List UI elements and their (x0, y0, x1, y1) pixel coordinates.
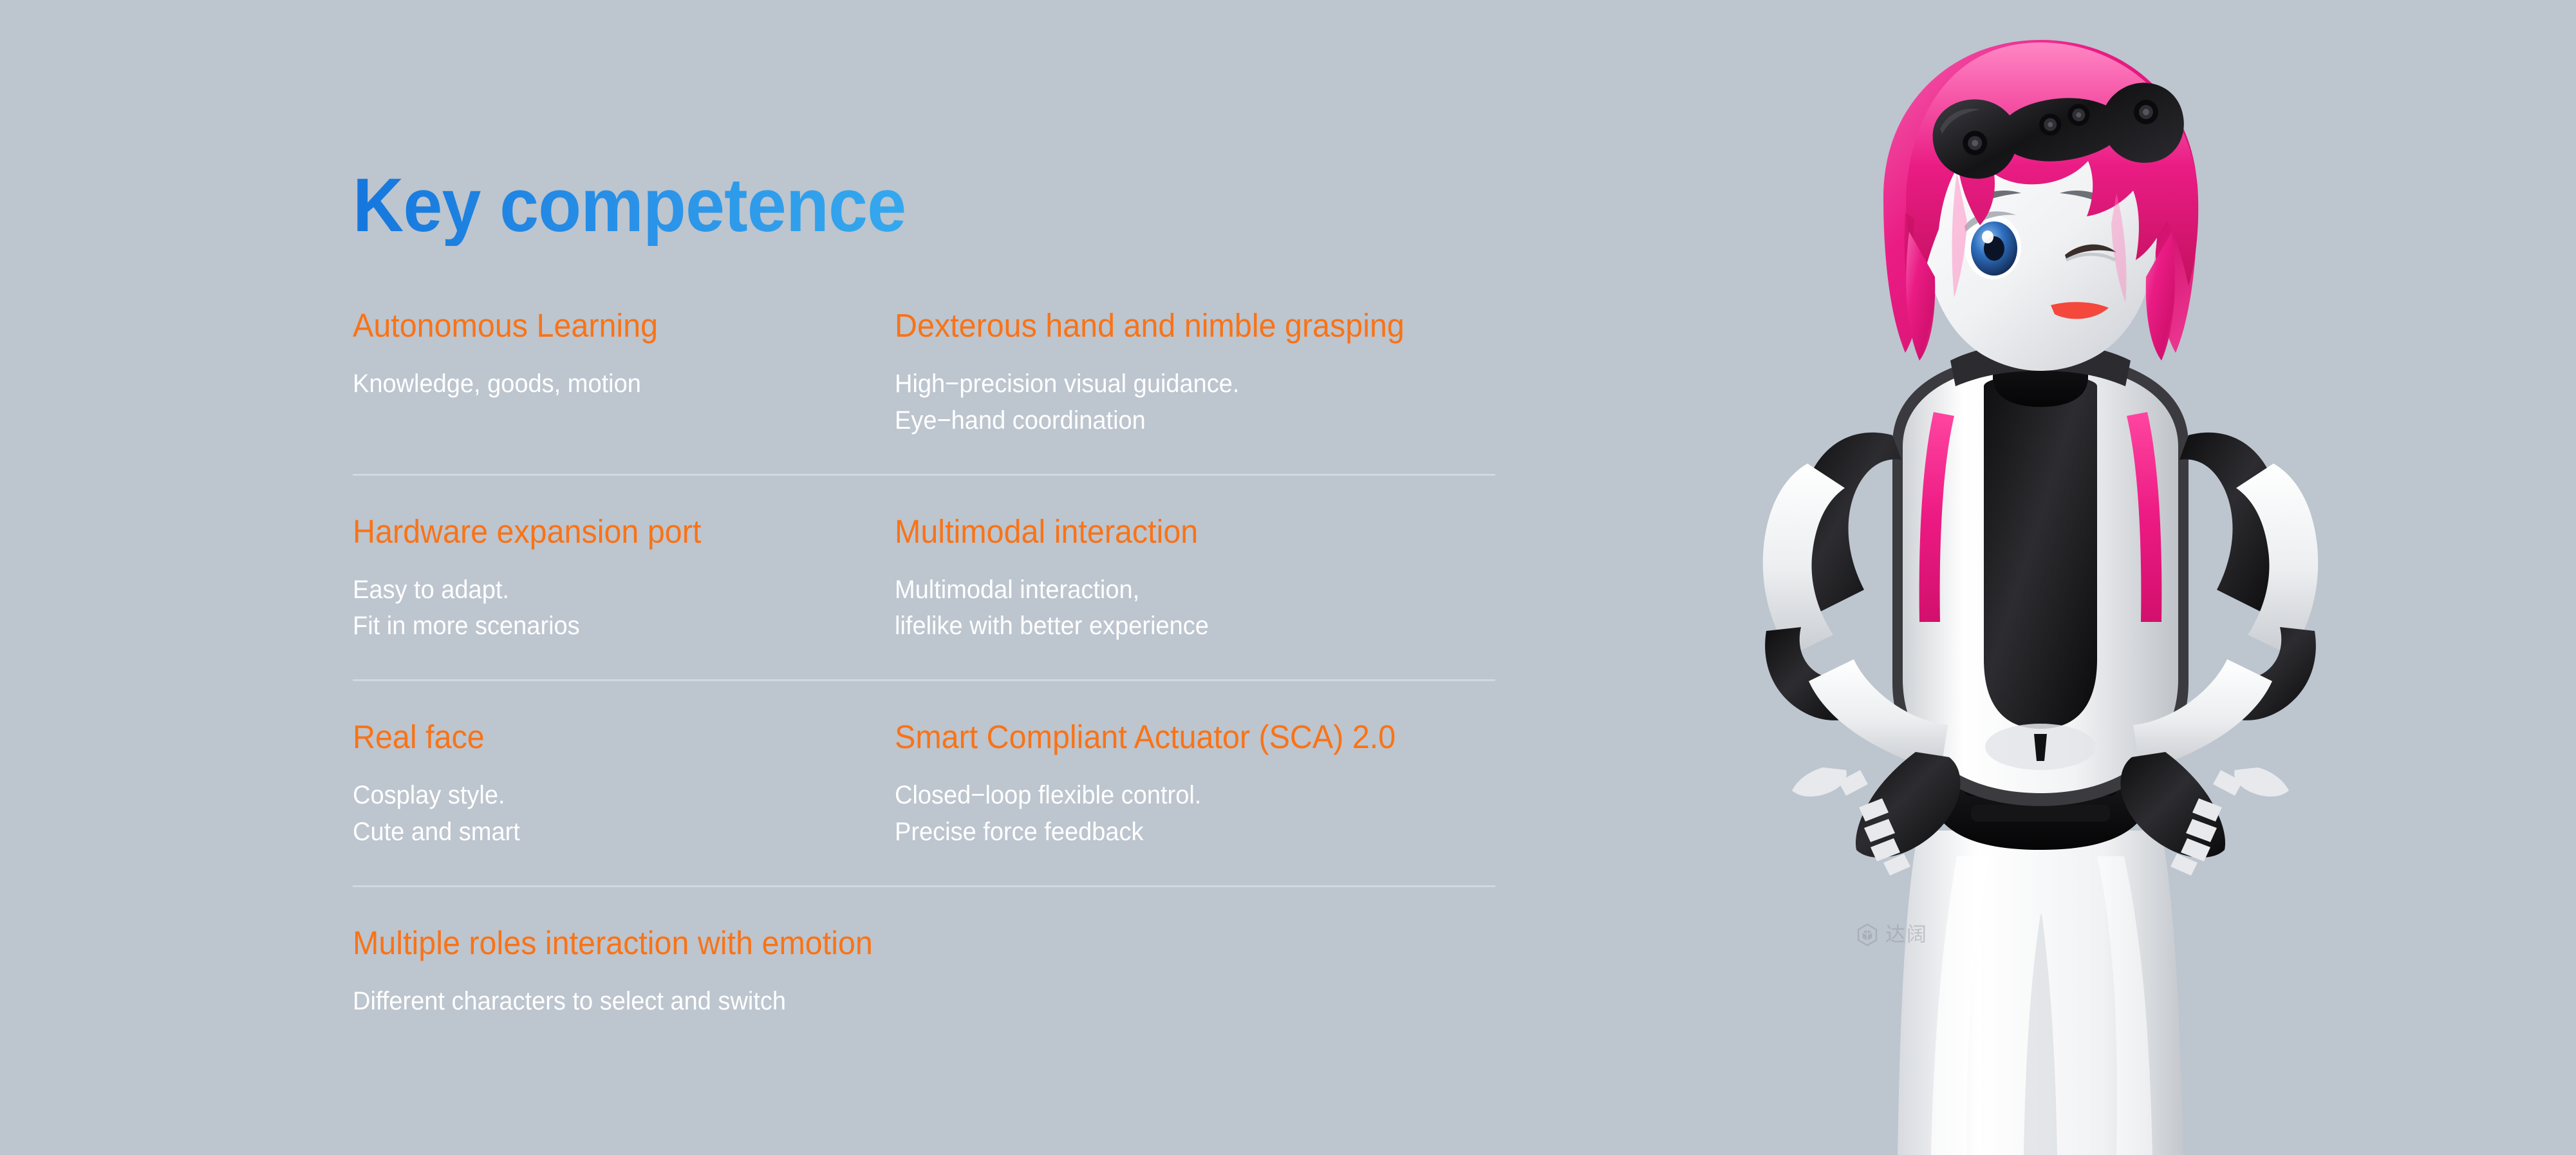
feature-row: Real face Cosplay style. Cute and smart … (353, 679, 1505, 885)
feature-heading: Multimodal interaction (895, 514, 1464, 550)
feature-row: Multiple roles interaction with emotion … (353, 885, 1505, 1055)
feature-item-smart-compliant-actuator[interactable]: Smart Compliant Actuator (SCA) 2.0 Close… (895, 719, 1493, 850)
feature-item-hardware-expansion-port[interactable]: Hardware expansion port Easy to adapt. F… (353, 514, 895, 645)
feature-item-dexterous-hand[interactable]: Dexterous hand and nimble grasping High−… (895, 308, 1493, 439)
content-column: Key competence Autonomous Learning Knowl… (353, 166, 1505, 1055)
feature-heading: Real face (353, 719, 868, 755)
feature-item-autonomous-learning[interactable]: Autonomous Learning Knowledge, goods, mo… (353, 308, 895, 439)
feature-heading: Autonomous Learning (353, 308, 868, 344)
page-title: Key competence (353, 166, 1424, 246)
feature-rows: Autonomous Learning Knowledge, goods, mo… (353, 308, 1505, 1055)
feature-description: High−precision visual guidance. Eye−hand… (895, 366, 1464, 439)
feature-description: Closed−loop flexible control. Precise fo… (895, 777, 1464, 850)
feature-description: Multimodal interaction, lifelike with be… (895, 572, 1464, 645)
feature-item-multimodal-interaction[interactable]: Multimodal interaction Multimodal intera… (895, 514, 1493, 645)
robot-illustration (1506, 0, 2576, 1155)
feature-item-real-face[interactable]: Real face Cosplay style. Cute and smart (353, 719, 895, 850)
robot-chest-panel (1984, 375, 2097, 729)
brand-logo: 达阔 (1856, 923, 1928, 946)
feature-heading: Smart Compliant Actuator (SCA) 2.0 (895, 719, 1464, 755)
feature-description: Cosplay style. Cute and smart (353, 777, 868, 850)
slide-root: Key competence Autonomous Learning Knowl… (0, 0, 2576, 1155)
feature-description: Easy to adapt. Fit in more scenarios (353, 572, 868, 645)
feature-heading: Hardware expansion port (353, 514, 868, 550)
feature-description: Knowledge, goods, motion (353, 366, 868, 402)
brand-name: 达阔 (1885, 925, 1928, 945)
feature-row: Hardware expansion port Easy to adapt. F… (353, 474, 1505, 680)
feature-heading: Dexterous hand and nimble grasping (895, 308, 1464, 344)
feature-heading: Multiple roles interaction with emotion (353, 925, 1438, 961)
feature-row: Autonomous Learning Knowledge, goods, mo… (353, 308, 1505, 474)
feature-description: Different characters to select and switc… (353, 983, 1438, 1020)
feature-item-multiple-roles-interaction[interactable]: Multiple roles interaction with emotion … (353, 925, 1495, 1020)
cube-logo-icon (1856, 923, 1878, 946)
